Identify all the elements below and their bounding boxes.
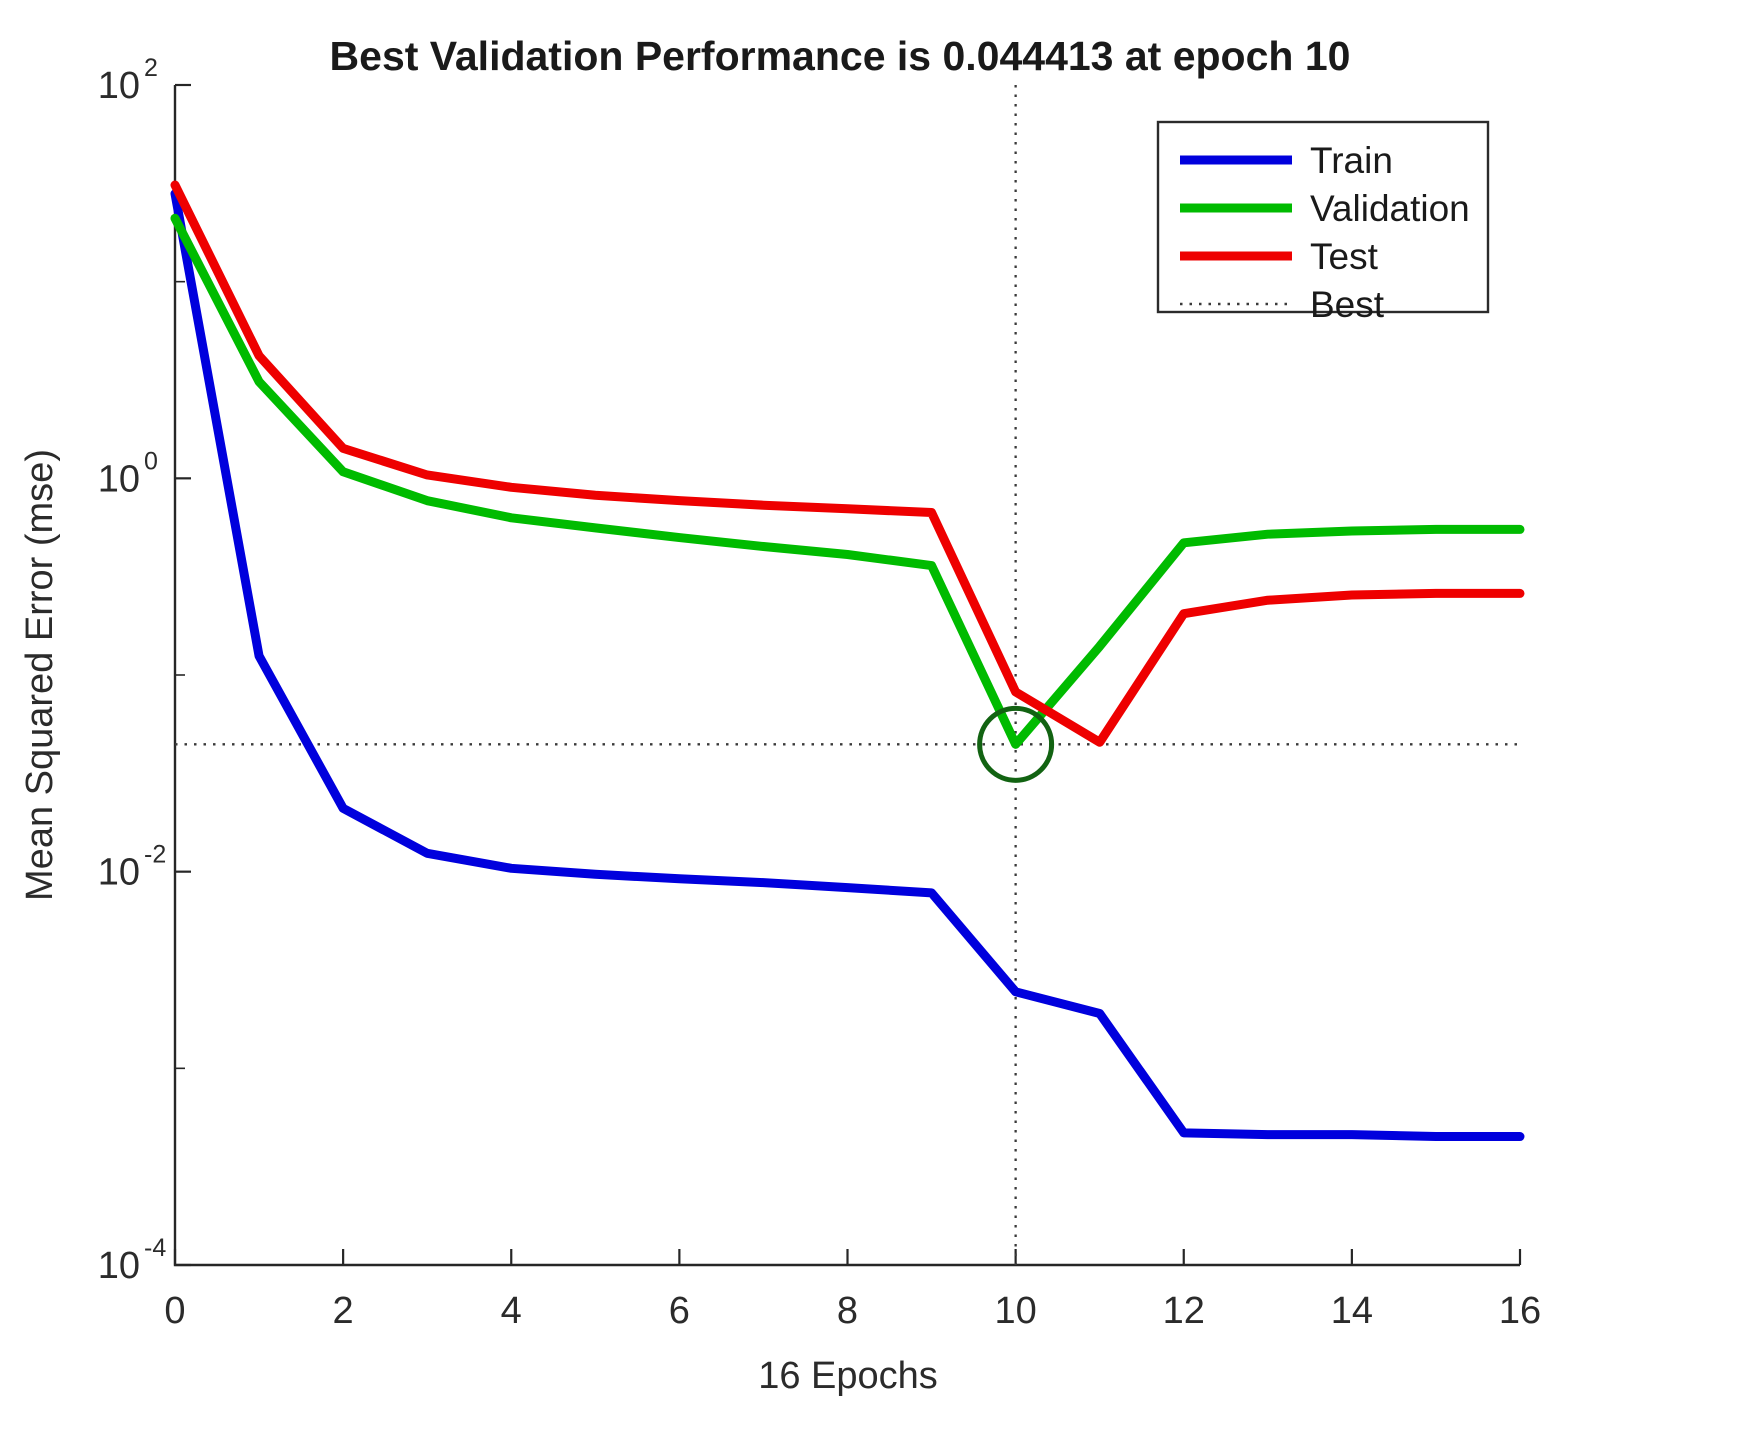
chart-title: Best Validation Performance is 0.044413 …	[330, 33, 1351, 79]
x-tick-label: 12	[1163, 1290, 1205, 1332]
performance-plot-figure: Best Validation Performance is 0.044413 …	[0, 0, 1760, 1447]
x-tick-label: 2	[333, 1290, 354, 1332]
x-axis-tick-labels: 0246810121416	[164, 1290, 1541, 1332]
x-tick-label: 8	[837, 1290, 858, 1332]
chart-legend[interactable]: TrainValidationTestBest	[1158, 122, 1488, 325]
x-tick-label: 16	[1499, 1290, 1541, 1332]
y-tick-label-base: 10	[98, 458, 140, 500]
legend-label-validation[interactable]: Validation	[1310, 188, 1470, 229]
y-tick-label-exponent: 0	[144, 447, 158, 475]
y-tick-label-exponent: 2	[144, 54, 158, 82]
y-tick-label: 100	[98, 447, 158, 500]
y-tick-label-base: 10	[98, 852, 140, 894]
y-tick-label-base: 10	[98, 1245, 140, 1287]
x-tick-label: 14	[1331, 1290, 1373, 1332]
x-tick-label: 4	[501, 1290, 522, 1332]
series-line-train	[175, 194, 1520, 1137]
performance-plot-svg: Best Validation Performance is 0.044413 …	[0, 0, 1760, 1447]
y-tick-label-base: 10	[98, 65, 140, 107]
y-tick-label-exponent: -2	[144, 841, 166, 869]
data-series-group	[175, 185, 1520, 1137]
x-tick-label: 10	[994, 1290, 1036, 1332]
y-tick-label: 10-4	[98, 1234, 167, 1287]
y-axis-label: Mean Squared Error (mse)	[19, 449, 61, 901]
x-tick-label: 0	[164, 1290, 185, 1332]
legend-label-best[interactable]: Best	[1310, 284, 1385, 325]
y-tick-label: 10-2	[98, 841, 167, 894]
y-tick-label-exponent: -4	[144, 1234, 166, 1262]
x-tick-label: 6	[669, 1290, 690, 1332]
x-axis-label: 16 Epochs	[758, 1355, 938, 1397]
y-tick-label: 102	[98, 54, 158, 107]
legend-label-test[interactable]: Test	[1310, 236, 1379, 277]
legend-label-train[interactable]: Train	[1310, 140, 1393, 181]
x-axis-ticks	[175, 1249, 1520, 1265]
y-axis-tick-labels: 10-410-2100102	[98, 54, 167, 1287]
